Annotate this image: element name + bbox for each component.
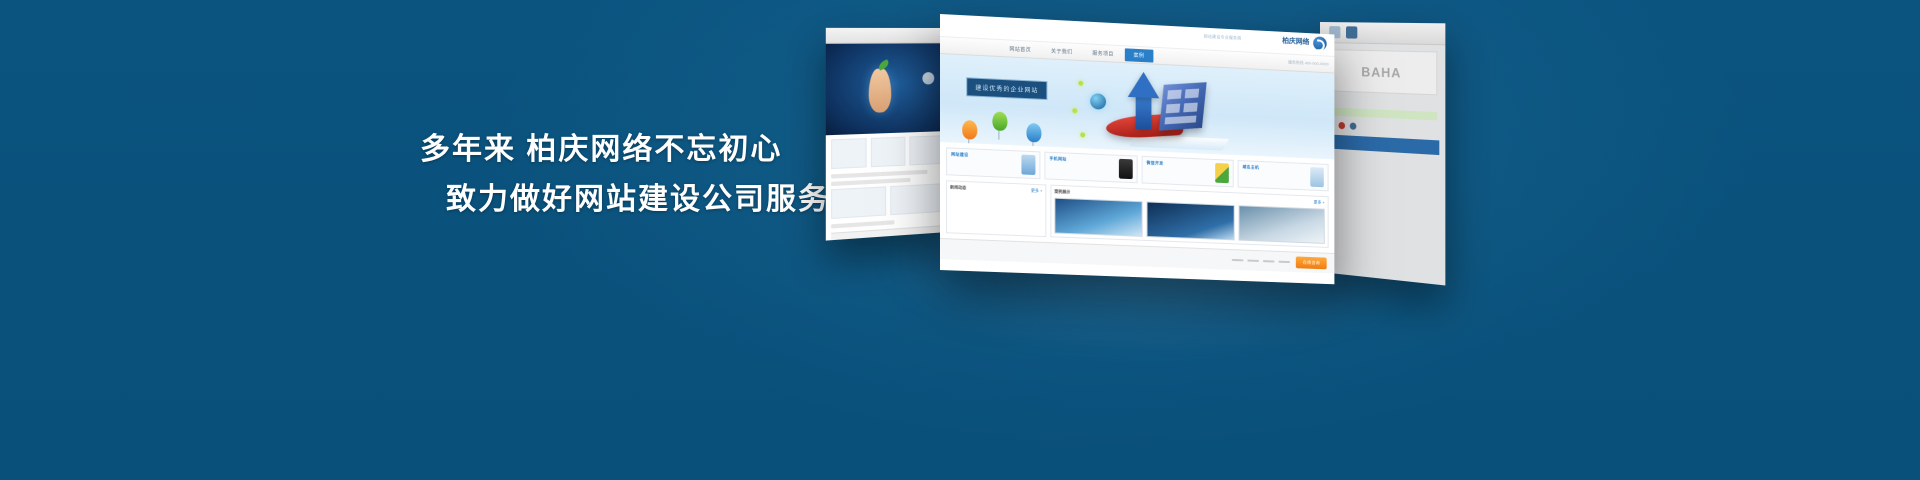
footer-link[interactable] xyxy=(1279,261,1291,263)
case-image xyxy=(1147,201,1235,240)
service-card[interactable]: 域名主机 xyxy=(1238,160,1329,191)
case-thumbnail[interactable] xyxy=(1147,201,1235,240)
left-card[interactable] xyxy=(909,135,943,165)
site-logo[interactable]: 柏庆网络 xyxy=(1282,35,1326,51)
cases-panel: 案例展示 更多 + xyxy=(1050,185,1328,248)
footer-link[interactable] xyxy=(1263,260,1275,262)
globe-icon xyxy=(1090,93,1106,110)
news-title: 新闻动态 xyxy=(950,184,966,191)
left-card[interactable] xyxy=(890,183,943,215)
news-panel: 新闻动态 更多 + xyxy=(946,180,1046,237)
mockup-right-site[interactable]: BAHA xyxy=(1320,22,1445,285)
footer-link[interactable] xyxy=(1232,259,1244,261)
orb-icon xyxy=(922,72,934,85)
case-image xyxy=(1054,198,1143,237)
left-text-line xyxy=(831,220,894,228)
case-image xyxy=(1238,205,1325,244)
left-text-line xyxy=(831,170,927,179)
balloon-blue-icon xyxy=(1026,123,1041,143)
mockup-left-site[interactable] xyxy=(826,28,948,241)
case-thumbnail[interactable] xyxy=(1238,205,1325,244)
footer-link-row xyxy=(1232,259,1290,263)
balloon-green-icon xyxy=(992,111,1007,131)
news-header: 新闻动态 更多 + xyxy=(950,184,1042,194)
social-icon[interactable] xyxy=(1350,122,1357,129)
social-icon[interactable] xyxy=(1339,122,1346,129)
right-footer-bar xyxy=(1326,134,1440,155)
right-link-list xyxy=(1320,97,1445,106)
mobile-phone-icon xyxy=(1119,159,1133,179)
server-icon xyxy=(1310,167,1323,187)
logo-text: 柏庆网络 xyxy=(1282,38,1309,47)
cases-more-link[interactable]: 更多 + xyxy=(1314,199,1325,205)
center-hero-banner: 建设优秀的企业网站 xyxy=(940,54,1334,159)
left-hero xyxy=(826,43,948,135)
right-site-logo: BAHA xyxy=(1327,49,1437,95)
node-dot-icon xyxy=(1080,132,1085,137)
news-more-link[interactable]: 更多 + xyxy=(1031,188,1042,194)
footer-link[interactable] xyxy=(1248,260,1260,262)
header-slogan: 网站建设专业服务商 xyxy=(1204,34,1242,42)
right-icon-row xyxy=(1327,121,1437,134)
hero-title: 建设优秀的企业网站 xyxy=(966,77,1047,100)
service-card-title: 网站建设 xyxy=(951,151,1018,160)
consult-button[interactable]: 在线咨询 xyxy=(1296,256,1326,269)
left-card[interactable] xyxy=(831,186,886,219)
printer-icon xyxy=(1346,26,1357,38)
nav-item-services[interactable]: 服务项目 xyxy=(1083,46,1122,61)
right-highlight-bar xyxy=(1327,107,1437,120)
service-card-title: 微信开发 xyxy=(1147,160,1213,169)
right-browser-bar xyxy=(1320,22,1445,45)
service-card[interactable]: 网站建设 xyxy=(946,147,1040,179)
service-card[interactable]: 手机网站 xyxy=(1044,152,1137,184)
website-icon xyxy=(1021,155,1035,175)
node-dot-icon xyxy=(1078,81,1083,86)
footer-copyright xyxy=(948,249,1226,259)
left-body xyxy=(826,131,948,241)
hand-icon xyxy=(869,69,892,113)
service-card[interactable]: 微信开发 xyxy=(1142,156,1234,188)
left-card-row xyxy=(831,183,943,219)
service-card-title: 域名主机 xyxy=(1242,164,1307,173)
left-card-row xyxy=(831,135,943,169)
wechat-icon xyxy=(1215,163,1229,183)
nav-hotline: 服务热线 400-000-0000 xyxy=(1288,59,1334,67)
case-thumbnail[interactable] xyxy=(1054,198,1143,237)
left-card[interactable] xyxy=(831,138,867,169)
left-card[interactable] xyxy=(871,137,906,168)
nav-item-cases[interactable]: 案例 xyxy=(1125,48,1153,62)
hero-banner: 多年来 柏庆网络不忘初心 致力做好网站建设公司服务 xyxy=(0,0,1920,480)
left-footer xyxy=(831,225,943,240)
arrow-blue-stem xyxy=(1136,95,1152,129)
arrow-blue-icon xyxy=(1128,71,1160,98)
mockup-center-site[interactable]: 网站建设专业服务商 柏庆网络 网站首页 关于我们 服务项目 案例 服务热线 40… xyxy=(940,14,1334,284)
node-dot-icon xyxy=(1072,108,1077,113)
left-browser-bar xyxy=(826,28,948,44)
balloon-orange-icon xyxy=(962,120,977,140)
website-showcase: BAHA xyxy=(820,0,1520,480)
cube-3d-icon xyxy=(1159,82,1207,130)
service-card-title: 手机网站 xyxy=(1049,156,1116,165)
logo-mark-icon xyxy=(1313,36,1326,50)
nav-item-home[interactable]: 网站首页 xyxy=(1000,42,1040,57)
case-thumbnail-row xyxy=(1054,198,1324,244)
nav-item-about[interactable]: 关于我们 xyxy=(1042,44,1081,59)
cases-title: 案例展示 xyxy=(1054,189,1070,196)
